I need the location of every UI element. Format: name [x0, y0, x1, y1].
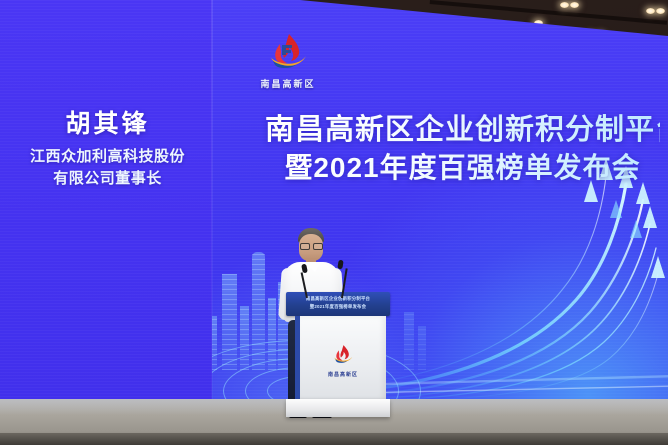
- podium-banner: 南昌高新区企业创新积分制平台 暨2021年度百强榜单发布会: [286, 292, 390, 316]
- nanchang-high-tech-flame-icon: [265, 32, 311, 70]
- stage-floor-edge: [0, 433, 668, 445]
- ceiling-spotlight: [560, 2, 569, 8]
- speaker-name: 胡其锋: [0, 108, 215, 140]
- eyeglasses-icon: [300, 243, 322, 248]
- event-title-line-2: 暨2021年度百强榜单发布会: [265, 149, 660, 186]
- speaker-nameplate: 胡其锋 江西众加利高科技股份 有限公司董事长: [0, 108, 215, 190]
- podium-banner-line-1: 南昌高新区企业创新积分制平台: [290, 295, 386, 302]
- backdrop-logo-text: 南昌高新区: [252, 77, 324, 90]
- ceiling-spotlight: [646, 8, 655, 14]
- podium-banner-line-2: 暨2021年度百强榜单发布会: [290, 303, 386, 310]
- conference-stage-photo: 南昌高新区 南昌高新区企业创新积分制平台 暨2021年度百强榜单发布会 胡其锋 …: [0, 0, 668, 445]
- event-title-line-1: 南昌高新区企业创新积分制平台: [265, 112, 660, 149]
- nanchang-high-tech-flame-icon: [331, 344, 355, 364]
- podium-logo: 南昌高新区: [300, 344, 386, 378]
- podium-front-panel: 南昌高新区: [295, 316, 386, 400]
- podium: 南昌高新区企业创新积分制平台 暨2021年度百强榜单发布会 南昌高新区: [286, 292, 390, 417]
- event-title: 南昌高新区企业创新积分制平台 暨2021年度百强榜单发布会: [265, 112, 660, 186]
- wall-seam: [211, 0, 213, 400]
- speaker-role-line-2: 有限公司董事长: [0, 168, 215, 190]
- speaker-role-line-1: 江西众加利高科技股份: [0, 146, 215, 168]
- podium-logo-text: 南昌高新区: [300, 371, 386, 378]
- backdrop-logo: 南昌高新区: [252, 32, 324, 92]
- podium-base: [286, 399, 390, 417]
- left-wall-panel: [0, 0, 212, 400]
